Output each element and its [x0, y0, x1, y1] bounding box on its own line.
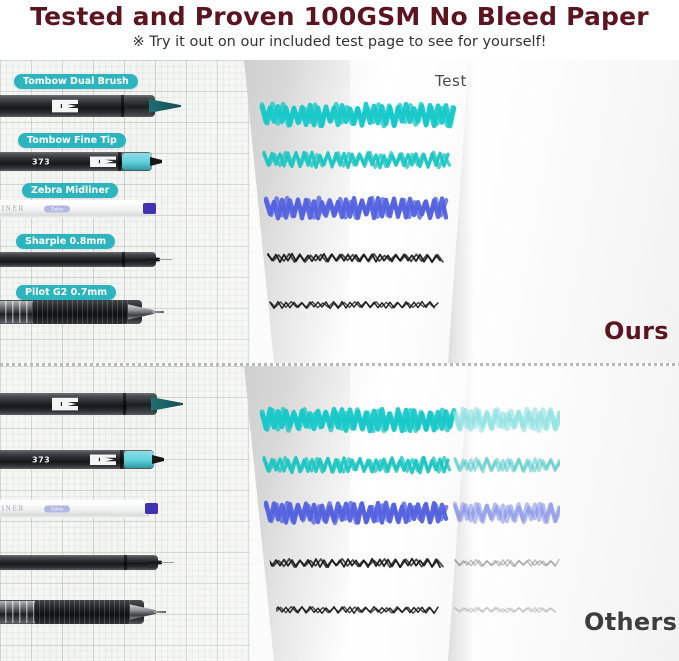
- pen-collar: [121, 95, 124, 117]
- pen-label-badge-3: Zebra Midliner: [22, 183, 118, 198]
- pen-grip: [34, 600, 130, 624]
- pen-collar: [120, 450, 123, 469]
- pen-ferrule: [125, 97, 151, 115]
- pen-ferrule: [127, 395, 153, 413]
- pen-grip-ribs: [32, 300, 128, 324]
- corner-label-others: Others: [584, 608, 677, 636]
- pen-3-others: MIDLINERZebra: [0, 500, 183, 518]
- pen-needle: [159, 259, 172, 260]
- pen-barrel-metal: [0, 301, 34, 323]
- pen-1-others: [0, 393, 191, 415]
- pen-label-badge-4: Sharpie 0.8mm: [16, 234, 115, 249]
- product-comparison-image: Tested and Proven 100GSM No Bleed Paper …: [0, 0, 679, 661]
- pen-2-ours: 373: [0, 152, 186, 171]
- pen-5-others: [0, 600, 186, 624]
- pen-brush-tip: [151, 397, 183, 411]
- pen-nib: [152, 455, 164, 464]
- pen-grip: [32, 300, 128, 324]
- pen-label-badge-1: Tombow Dual Brush: [14, 74, 138, 89]
- pen-label-badge-5: Pilot G2 0.7mm: [16, 285, 116, 300]
- test-sheet-others: [244, 366, 474, 661]
- pen-chisel-tip: [145, 503, 158, 514]
- pen-grip-ribs: [34, 600, 130, 624]
- pen-4-others: [0, 555, 192, 570]
- pen-nib: [152, 311, 164, 313]
- pen-barrel-metal: [0, 601, 36, 623]
- header: Tested and Proven 100GSM No Bleed Paper …: [0, 0, 679, 60]
- pen-barrel-ribs: [0, 301, 34, 323]
- pen-brand-chip: Zebra: [44, 506, 70, 513]
- pen-brush-tip: [149, 99, 181, 113]
- pen-barrel-ribs: [0, 601, 36, 623]
- pen-needle: [161, 562, 174, 563]
- pen-label-badge-2: Tombow Fine Tip: [18, 133, 126, 148]
- pen-4-ours: [0, 252, 190, 267]
- pen-barrel-print: MIDLINER: [0, 506, 25, 513]
- page-subtitle: ※ Try it out on our included test page t…: [0, 34, 679, 50]
- corner-label-ours: Ours: [604, 317, 669, 345]
- pen-3-ours: MIDLINERZebra: [0, 200, 181, 218]
- pen-collar: [123, 393, 126, 415]
- pen-tip-collar: [122, 153, 152, 170]
- pen-collar: [124, 555, 127, 570]
- pen-barrel-print: MIDLINER: [0, 206, 25, 213]
- pen-barrel-print: 373: [32, 455, 50, 464]
- pen-neck: [113, 502, 147, 516]
- pen-neck: [111, 202, 145, 216]
- pen-brand-chip: Zebra: [44, 206, 70, 213]
- panel-divider: [0, 363, 679, 366]
- test-label-ours: Test: [435, 72, 467, 90]
- pen-cone-2: [146, 256, 160, 263]
- pen-nib: [150, 157, 162, 166]
- pen-tip-collar: [124, 451, 154, 468]
- pen-barrel-print: 373: [32, 157, 50, 166]
- pen-collar: [118, 152, 121, 171]
- pen-1-ours: [0, 95, 189, 117]
- pen-cone-2: [148, 559, 162, 566]
- pen-chisel-tip: [143, 203, 156, 214]
- test-sheet-ours: [244, 60, 474, 363]
- pen-nib: [154, 611, 166, 613]
- pen-5-ours: [0, 300, 184, 324]
- page-title: Tested and Proven 100GSM No Bleed Paper: [0, 2, 679, 31]
- pen-collar: [122, 252, 125, 267]
- pen-2-others: 373: [0, 450, 188, 469]
